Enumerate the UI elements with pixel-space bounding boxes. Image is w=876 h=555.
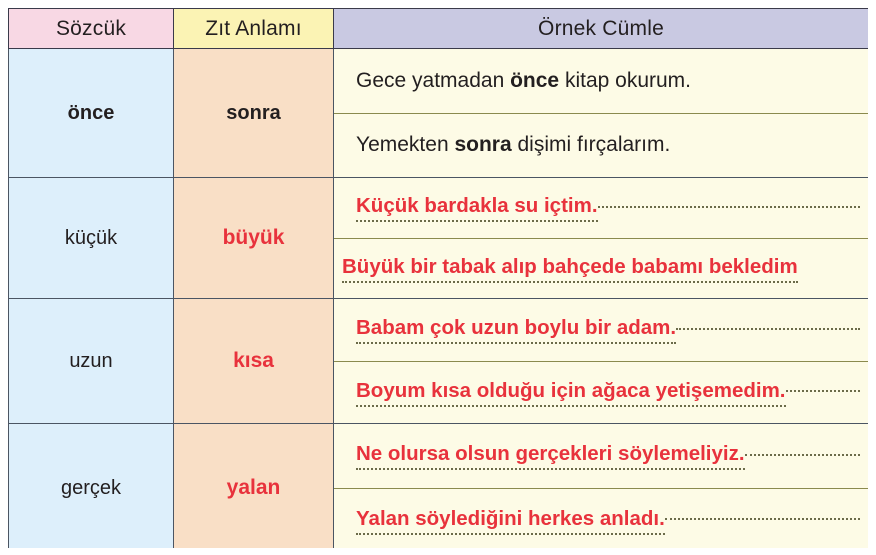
answer-dotted-line — [745, 454, 860, 456]
sentence-cell: Küçük bardakla su içtim. Büyük bir tabak… — [334, 178, 869, 299]
sentence-cell: Babam çok uzun boylu bir adam. Boyum kıs… — [334, 299, 869, 424]
example-sentence: Yemekten sonra dişimi fırçalarım. — [356, 133, 670, 157]
highlight-word: sonra — [454, 133, 511, 156]
handwritten-answer: Ne olursa olsun gerçekleri söylemeliyiz. — [356, 441, 745, 470]
word-cell: önce — [9, 49, 174, 178]
handwritten-answer: Babam çok uzun boylu bir adam. — [356, 315, 676, 344]
antonyms-table: Sözcük Zıt Anlamı Örnek Cümle önce sonra… — [8, 8, 868, 548]
table-row: gerçek yalan Ne olursa olsun gerçekleri … — [9, 424, 869, 549]
sentence-line: Babam çok uzun boylu bir adam. — [334, 299, 868, 361]
antonym-answer-cell: yalan — [174, 424, 334, 549]
answer-dotted-line — [598, 206, 860, 208]
word-cell: gerçek — [9, 424, 174, 549]
handwritten-answer: Küçük bardakla su içtim. — [356, 193, 598, 222]
column-header-antonym: Zıt Anlamı — [174, 9, 334, 49]
highlight-word: önce — [510, 69, 559, 92]
sentence-line: Boyum kısa olduğu için ağaca yetişemedim… — [334, 361, 868, 424]
word-cell: küçük — [9, 178, 174, 299]
sentence-line: Yemekten sonra dişimi fırçalarım. — [334, 113, 868, 178]
table-row: uzun kısa Babam çok uzun boylu bir adam.… — [9, 299, 869, 424]
column-header-sentence: Örnek Cümle — [334, 9, 869, 49]
word-cell: uzun — [9, 299, 174, 424]
table-header: Sözcük Zıt Anlamı Örnek Cümle — [9, 9, 869, 49]
column-header-word: Sözcük — [9, 9, 174, 49]
sentence-cell: Gece yatmadan önce kitap okurum. Yemekte… — [334, 49, 869, 178]
sentence-line: Yalan söylediğini herkes anladı. — [334, 488, 868, 549]
sentence-cell: Ne olursa olsun gerçekleri söylemeliyiz.… — [334, 424, 869, 549]
sentence-line: Gece yatmadan önce kitap okurum. — [334, 49, 868, 113]
handwritten-answer: Yalan söylediğini herkes anladı. — [356, 506, 665, 535]
antonym-cell: sonra — [174, 49, 334, 178]
table-row: küçük büyük Küçük bardakla su içtim. Büy… — [9, 178, 869, 299]
header-row: Sözcük Zıt Anlamı Örnek Cümle — [9, 9, 869, 49]
sentence-line: Küçük bardakla su içtim. — [334, 178, 868, 238]
antonyms-worksheet: Sözcük Zıt Anlamı Örnek Cümle önce sonra… — [8, 8, 868, 548]
antonym-answer-cell: büyük — [174, 178, 334, 299]
answer-dotted-line — [676, 328, 860, 330]
handwritten-answer: Büyük bir tabak alıp bahçede babamı bekl… — [342, 254, 798, 283]
answer-dotted-line — [665, 518, 860, 520]
sentence-line: Ne olursa olsun gerçekleri söylemeliyiz. — [334, 424, 868, 488]
answer-dotted-line — [786, 390, 861, 392]
table-row: önce sonra Gece yatmadan önce kitap okur… — [9, 49, 869, 178]
sentence-line: Büyük bir tabak alıp bahçede babamı bekl… — [334, 238, 868, 299]
example-sentence: Gece yatmadan önce kitap okurum. — [356, 69, 691, 93]
table-body: önce sonra Gece yatmadan önce kitap okur… — [9, 49, 869, 549]
handwritten-answer: Boyum kısa olduğu için ağaca yetişemedim… — [356, 378, 786, 407]
antonym-answer-cell: kısa — [174, 299, 334, 424]
